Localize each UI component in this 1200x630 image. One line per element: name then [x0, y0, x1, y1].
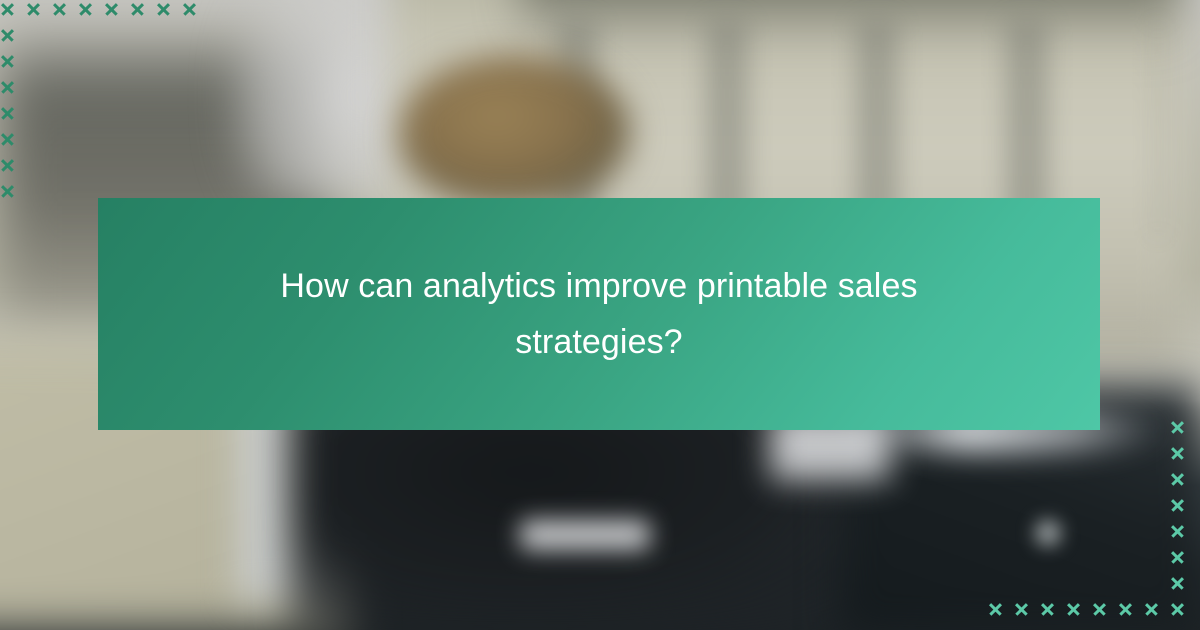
background-figure — [400, 56, 630, 206]
background-highlight-speck — [1035, 520, 1061, 546]
headline-banner: How can analytics improve printable sale… — [98, 198, 1100, 430]
headline-text: How can analytics improve printable sale… — [239, 258, 959, 370]
social-card: How can analytics improve printable sale… — [0, 0, 1200, 630]
background-highlight-block — [520, 520, 650, 550]
